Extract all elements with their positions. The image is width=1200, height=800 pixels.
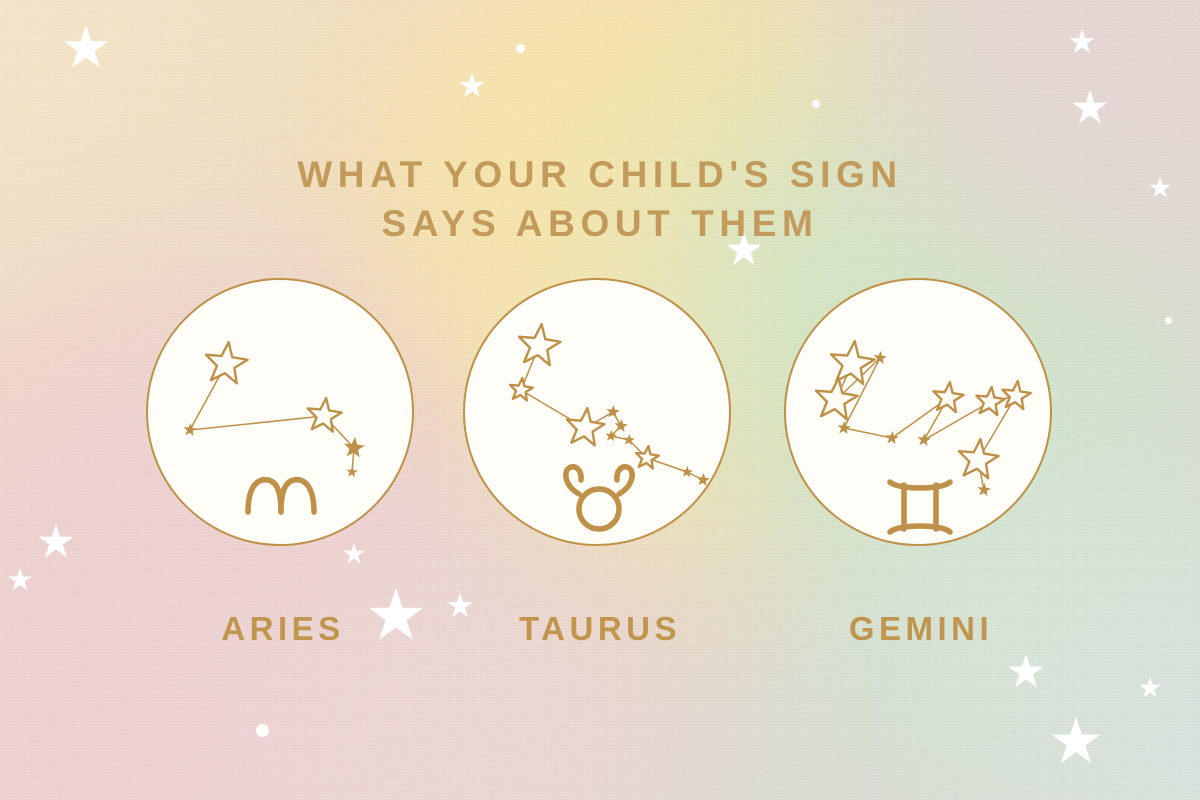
aries-constellation xyxy=(148,280,414,546)
gemini-disc xyxy=(784,278,1052,546)
constellation-star-small xyxy=(838,421,851,434)
page-title: WHAT YOUR CHILD'S SIGN SAYS ABOUT THEM xyxy=(0,150,1200,248)
constellation-star-large xyxy=(933,382,963,412)
constellation-star-small xyxy=(978,483,991,496)
constellation-star-small xyxy=(347,466,358,477)
taurus-bull-glyph xyxy=(566,467,632,529)
sign-label-gemini: GEMINI xyxy=(784,610,1058,648)
gemini-constellation xyxy=(786,280,1052,546)
page-title-line-1: WHAT YOUR CHILD'S SIGN xyxy=(0,150,1200,199)
constellation-star-small xyxy=(682,466,693,477)
gemini-twins-glyph xyxy=(890,482,950,532)
page-title-line-2: SAYS ABOUT THEM xyxy=(0,199,1200,248)
aries-ram-glyph xyxy=(248,480,314,512)
constellation-star-large xyxy=(519,324,561,365)
constellation-star-large xyxy=(206,342,248,383)
constellation-star-large xyxy=(1002,381,1030,409)
constellation-star-large xyxy=(959,439,999,478)
constellation-star-large xyxy=(308,398,342,432)
constellation-star-small xyxy=(918,433,931,446)
sign-label-aries: ARIES xyxy=(146,610,420,648)
taurus-disc xyxy=(463,278,731,546)
sign-card-taurus[interactable]: TAURUS xyxy=(463,278,737,546)
constellation-star-large xyxy=(567,408,605,445)
constellation-star-large xyxy=(976,387,1004,415)
sign-card-aries[interactable]: ARIES xyxy=(146,278,420,546)
sign-card-gemini[interactable]: GEMINI xyxy=(784,278,1058,546)
sign-label-taurus: TAURUS xyxy=(463,610,737,648)
constellation-star-large xyxy=(510,378,533,400)
taurus-constellation xyxy=(465,280,731,546)
zodiac-infographic: WHAT YOUR CHILD'S SIGN SAYS ABOUT THEM A… xyxy=(0,0,1200,800)
constellation-star-small xyxy=(184,423,197,436)
constellation-star-small xyxy=(697,473,710,486)
aries-disc xyxy=(146,278,414,546)
constellation-star-small xyxy=(607,405,620,418)
